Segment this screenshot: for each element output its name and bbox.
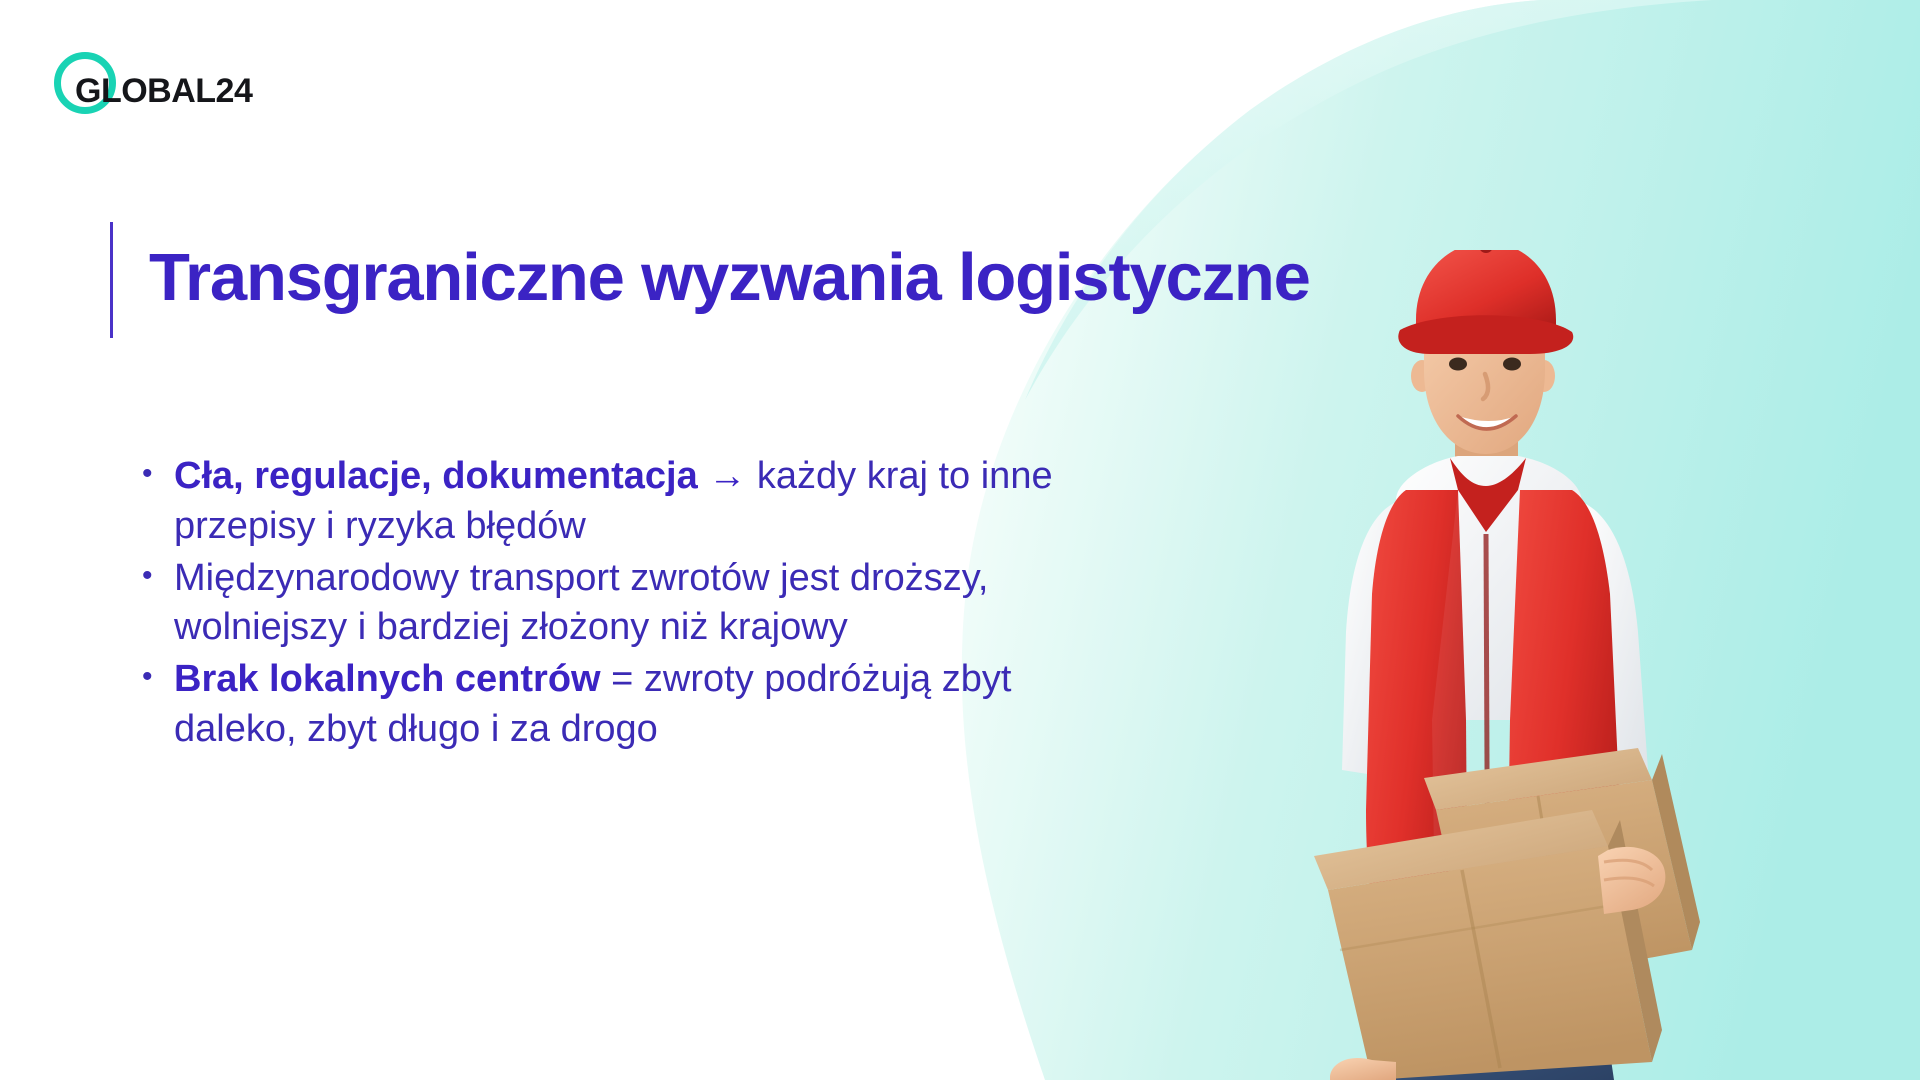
logo-wordmark: GLOBAL24 [75,72,252,111]
list-item: • Cła, regulacje, dokumentacja → każdy k… [142,452,1082,552]
list-item-text: Cła, regulacje, dokumentacja → każdy kra… [174,452,1082,552]
arrow-icon: → [698,455,757,497]
slide-root: GLOBAL24 Transgraniczne wyzwania logisty… [0,0,1920,1080]
bullet-marker-icon: • [142,554,174,598]
title-text: Transgraniczne wyzwania logistyczne [149,241,1310,319]
courier-photo [1200,250,1920,1080]
list-item-bold-lead: Brak lokalnych centrów [174,658,601,700]
list-item: • Międzynarodowy transport zwrotów jest … [142,554,1082,654]
title-accent-bar [110,222,113,338]
list-item-text: Brak lokalnych centrów = zwroty podróżuj… [174,655,1082,755]
bullet-marker-icon: • [142,452,174,496]
bullet-marker-icon: • [142,655,174,699]
list-item-text: Międzynarodowy transport zwrotów jest dr… [174,554,1082,654]
list-item-bold-lead: Cła, regulacje, dokumentacja [174,455,698,497]
list-item-rest: Międzynarodowy transport zwrotów jest dr… [174,557,988,649]
list-item: • Brak lokalnych centrów = zwroty podróż… [142,655,1082,755]
bullet-list: • Cła, regulacje, dokumentacja → każdy k… [142,452,1082,757]
equals-sign: = [601,658,644,700]
page-title: Transgraniczne wyzwania logistyczne [110,222,1310,338]
logo[interactable]: GLOBAL24 [48,52,278,122]
